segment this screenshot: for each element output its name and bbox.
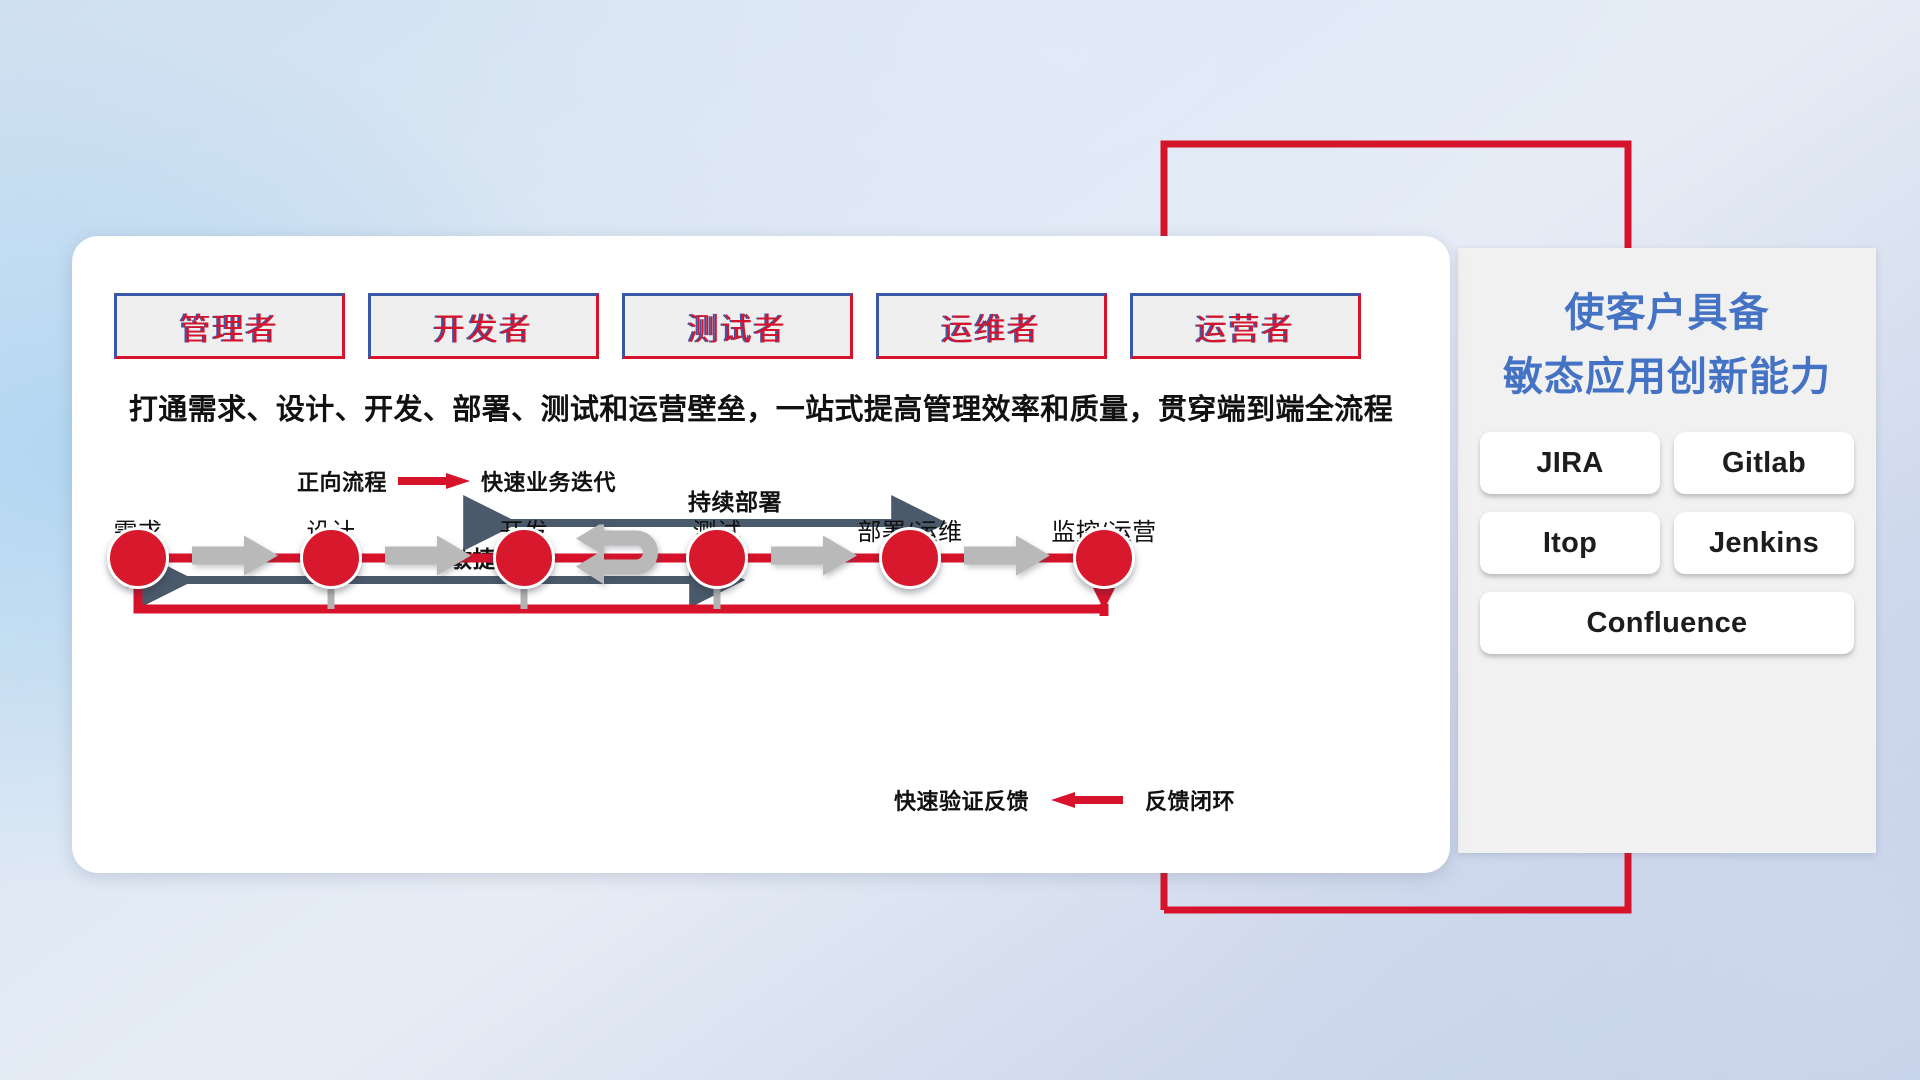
tool-tag[interactable]: Jenkins [1674,512,1854,574]
stage-dot[interactable] [300,527,362,589]
tool-tag-grid: JIRAGitlabItopJenkinsConfluence [1458,432,1876,654]
stage-dot[interactable] [879,527,941,589]
tool-tag[interactable]: JIRA [1480,432,1660,494]
panel-heading-line1: 使客户具备 [1458,290,1876,336]
block-arrow-right-icon [771,534,857,583]
block-arrow-right-icon [192,534,278,583]
loop-back-arrow-icon [574,525,668,592]
block-arrow-right-icon [964,534,1050,583]
stage-dot[interactable] [493,527,555,589]
slide-canvas: 使客户具备 敏态应用创新能力 JIRAGitlabItopJenkinsConf… [0,0,1920,1080]
tool-tag[interactable]: Confluence [1480,592,1854,654]
stage-dot[interactable] [686,527,748,589]
stage-dot[interactable] [107,527,169,589]
tool-tag[interactable]: Gitlab [1674,432,1854,494]
capability-panel: 使客户具备 敏态应用创新能力 JIRAGitlabItopJenkinsConf… [1458,248,1876,853]
pipeline-card: 管理者开发者测试者运维者运营者 打通需求、设计、开发、部署、测试和运营壁垒，一站… [72,236,1450,873]
block-arrow-right-icon [385,534,471,583]
panel-heading-line2: 敏态应用创新能力 [1458,354,1876,400]
pipeline-connectors [72,236,1450,873]
stage-dot[interactable] [1073,527,1135,589]
tool-tag[interactable]: Itop [1480,512,1660,574]
